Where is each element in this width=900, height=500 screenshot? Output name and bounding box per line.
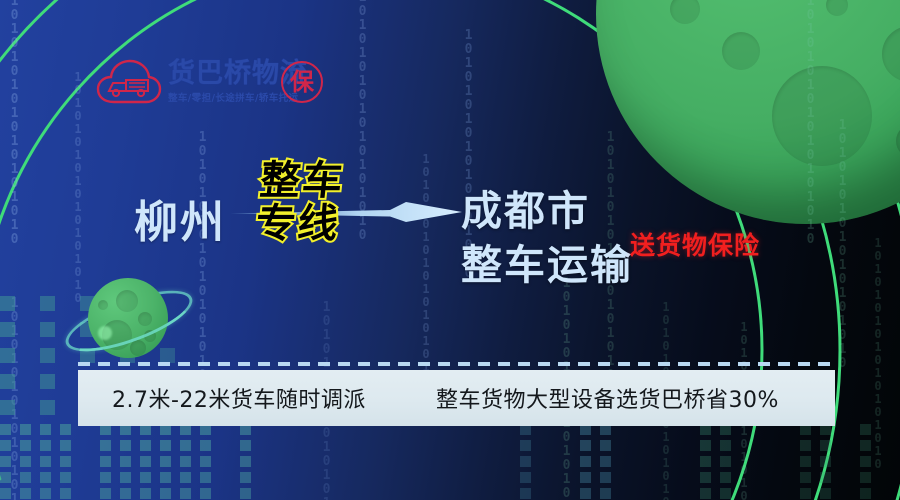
pixel-square	[20, 488, 31, 499]
destination-block: 成都市 整车运输	[461, 184, 633, 292]
pixel-square	[160, 456, 171, 467]
pixel-square	[720, 488, 731, 499]
banner-left-text: 2.7米-22米货车随时调派	[112, 382, 366, 414]
green-planet-icon	[596, 0, 900, 224]
pixel-square	[820, 472, 831, 483]
pixel-square	[820, 440, 831, 451]
pixel-square	[820, 456, 831, 467]
stamp-line-2: 专线	[254, 205, 342, 243]
pixel-square	[140, 456, 151, 467]
binary-column: 101010101010101010	[8, 0, 21, 246]
pixel-square	[40, 488, 51, 499]
pixel-square	[860, 440, 871, 451]
pixel-square	[240, 488, 251, 499]
pixel-square	[600, 456, 611, 467]
pixel-square	[140, 472, 151, 483]
pixel-square	[60, 424, 71, 435]
pixel-square	[160, 348, 175, 363]
pixel-square	[60, 472, 71, 483]
pixel-square	[600, 488, 611, 499]
pixel-square	[40, 456, 51, 467]
pixel-square	[0, 472, 11, 483]
bottom-banner: 2.7米-22米货车随时调派 整车货物大型设备选货巴桥省30%	[78, 370, 835, 426]
pixel-square	[860, 424, 871, 435]
pixel-square	[240, 456, 251, 467]
pixel-square	[100, 440, 111, 451]
pixel-square	[0, 456, 11, 467]
pixel-square	[520, 456, 531, 467]
pixel-square	[0, 322, 15, 337]
pixel-square	[20, 456, 31, 467]
pixel-square	[0, 440, 11, 451]
pixel-square	[160, 472, 171, 483]
pixel-square	[720, 472, 731, 483]
pixel-square	[700, 456, 711, 467]
pixel-square	[700, 488, 711, 499]
banner-right-text: 整车货物大型设备选货巴桥省30%	[436, 382, 779, 414]
pixel-square	[0, 400, 15, 415]
pixel-square	[860, 472, 871, 483]
stamp-line-1: 整车	[258, 162, 346, 200]
pixel-square	[580, 488, 591, 499]
pixel-square	[0, 488, 11, 499]
insurance-highlight-text: 送货物保险	[630, 226, 760, 262]
binary-column: 101010101010101010	[420, 152, 432, 386]
binary-column: 101010101010101010	[872, 236, 884, 470]
pixel-square	[0, 424, 11, 435]
pixel-square	[860, 488, 871, 499]
pixel-square	[800, 488, 811, 499]
pixel-square	[800, 440, 811, 451]
pixel-square	[820, 488, 831, 499]
dashed-divider	[78, 362, 832, 366]
pixel-square	[860, 456, 871, 467]
pixel-square	[60, 456, 71, 467]
pixel-square	[700, 472, 711, 483]
destination-service-label: 整车运输	[461, 238, 633, 292]
pixel-square	[580, 472, 591, 483]
pixel-square	[200, 488, 211, 499]
pixel-square	[140, 440, 151, 451]
pixel-square	[40, 472, 51, 483]
pixel-square	[180, 472, 191, 483]
cloud-truck-icon	[96, 58, 162, 106]
pixel-square	[120, 472, 131, 483]
pixel-square	[600, 472, 611, 483]
insurance-badge[interactable]: 保	[281, 61, 323, 103]
pixel-square	[600, 440, 611, 451]
pixel-square	[100, 456, 111, 467]
pixel-square	[160, 488, 171, 499]
pixel-square	[60, 440, 71, 451]
pixel-square	[240, 472, 251, 483]
pixel-square	[720, 456, 731, 467]
pixel-square	[160, 440, 171, 451]
pixel-square	[180, 456, 191, 467]
pixel-square	[720, 440, 731, 451]
binary-column: 101010101010101010	[8, 296, 21, 500]
pixel-square	[40, 348, 55, 363]
pixel-square	[0, 296, 15, 311]
brand-logo[interactable]: 货巴桥物流 整车/零担/长途拼车/轿车托运	[96, 58, 308, 106]
pixel-square	[700, 440, 711, 451]
pixel-square	[20, 440, 31, 451]
pixel-square	[20, 472, 31, 483]
destination-city-label: 成都市	[461, 184, 633, 238]
binary-column: 101010101010101010	[72, 70, 84, 304]
pixel-square	[40, 296, 55, 311]
pixel-square	[0, 348, 15, 363]
pixel-square	[40, 400, 55, 415]
pixel-square	[0, 374, 15, 389]
service-stamp: 整车 专线	[254, 162, 347, 244]
pixel-square	[60, 488, 71, 499]
binary-column: 101010101010101010	[196, 130, 209, 382]
pixel-square	[200, 472, 211, 483]
pixel-square	[520, 440, 531, 451]
promo-banner-canvas: 101010101010101010 101010101010101010 10…	[0, 0, 900, 500]
pixel-square	[180, 488, 191, 499]
pixel-square	[40, 440, 51, 451]
pixel-square	[120, 456, 131, 467]
pixel-square	[100, 488, 111, 499]
pixel-square	[200, 440, 211, 451]
pixel-square	[40, 374, 55, 389]
pixel-square	[100, 472, 111, 483]
pixel-square	[180, 440, 191, 451]
pixel-square	[580, 440, 591, 451]
pixel-square	[800, 472, 811, 483]
pixel-square	[580, 456, 591, 467]
pixel-square	[40, 322, 55, 337]
pixel-square	[520, 472, 531, 483]
pixel-square	[20, 424, 31, 435]
pixel-square	[120, 488, 131, 499]
pixel-square	[200, 456, 211, 467]
origin-city-label: 柳州	[134, 186, 226, 250]
pixel-square	[40, 424, 51, 435]
pixel-square	[520, 488, 531, 499]
pixel-square	[140, 488, 151, 499]
pixel-square	[800, 456, 811, 467]
pixel-square	[240, 440, 251, 451]
pixel-square	[120, 440, 131, 451]
